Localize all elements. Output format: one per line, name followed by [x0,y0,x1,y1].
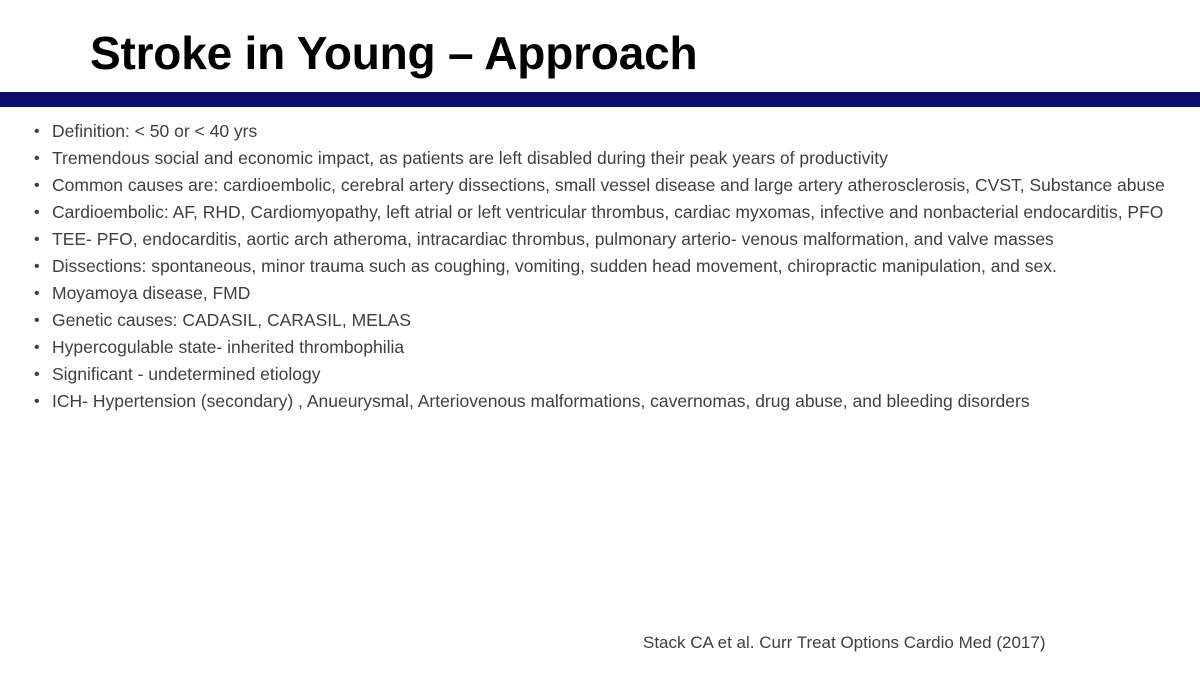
list-item: Definition: < 50 or < 40 yrs [28,121,1188,142]
bullet-list: Definition: < 50 or < 40 yrs Tremendous … [28,121,1188,418]
list-item-text: TEE- PFO, endocarditis, aortic arch athe… [52,229,1188,250]
title-divider-bar [0,92,1200,107]
list-item: Genetic causes: CADASIL, CARASIL, MELAS [28,310,1188,331]
page-title: Stroke in Young – Approach [90,29,697,77]
list-item: Cardioembolic: AF, RHD, Cardiomyopathy, … [28,202,1188,223]
list-item: Hypercogulable state- inherited thrombop… [28,337,1188,358]
source-citation: Stack CA et al. Curr Treat Options Cardi… [643,632,1046,653]
list-item-text: Dissections: spontaneous, minor trauma s… [52,256,1188,277]
list-item: Significant - undetermined etiology [28,364,1188,385]
list-item: TEE- PFO, endocarditis, aortic arch athe… [28,229,1188,250]
list-item: Common causes are: cardioembolic, cerebr… [28,175,1188,196]
list-item: Dissections: spontaneous, minor trauma s… [28,256,1188,277]
list-item: Tremendous social and economic impact, a… [28,148,1188,169]
slide: Stroke in Young – Approach Definition: <… [0,0,1200,675]
list-item-text: Genetic causes: CADASIL, CARASIL, MELAS [52,310,1188,331]
list-item: ICH- Hypertension (secondary) , Anueurys… [28,391,1188,412]
list-item-text: Definition: < 50 or < 40 yrs [52,121,1188,142]
list-item-text: ICH- Hypertension (secondary) , Anueurys… [52,391,1188,412]
list-item: Moyamoya disease, FMD [28,283,1188,304]
list-item-text: Cardioembolic: AF, RHD, Cardiomyopathy, … [52,202,1188,223]
list-item-text: Tremendous social and economic impact, a… [52,148,1188,169]
list-item-text: Hypercogulable state- inherited thrombop… [52,337,1188,358]
list-item-text: Moyamoya disease, FMD [52,283,1188,304]
list-item-text: Significant - undetermined etiology [52,364,1188,385]
list-item-text: Common causes are: cardioembolic, cerebr… [52,175,1188,196]
